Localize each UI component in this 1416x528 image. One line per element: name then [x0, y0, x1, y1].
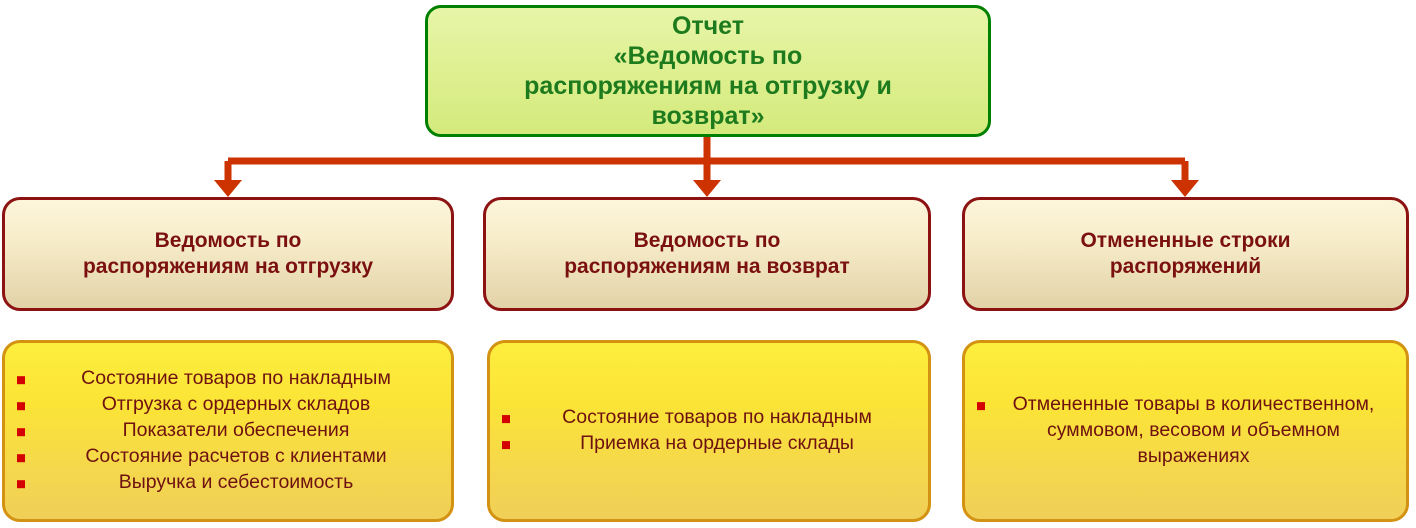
list-item-label: Состояние товаров по накладным — [562, 406, 872, 428]
list-item-label: Отмененные товары в количественном, сумм… — [1013, 393, 1375, 467]
list-item: Отмененные товары в количественном, сумм… — [965, 392, 1406, 470]
list-item-label: Состояние расчетов с клиентами — [85, 445, 386, 467]
branch-node-return[interactable]: Ведомость по распоряжениям на возврат — [483, 197, 931, 311]
branch-node-title: Ведомость по распоряжениям на возврат — [554, 228, 860, 281]
leaf-list: Состояние товаров по накладным Отгрузка … — [5, 366, 451, 496]
list-item: Состояние товаров по накладным — [5, 366, 451, 392]
bullet-square-icon — [502, 415, 510, 423]
branch-node-title: Отмененные строки распоряжений — [1070, 228, 1300, 281]
connector-arrowhead-2 — [693, 180, 721, 197]
branch-node-shipment[interactable]: Ведомость по распоряжениям на отгрузку — [2, 197, 454, 311]
bullet-square-icon — [17, 376, 25, 384]
leaf-list: Отмененные товары в количественном, сумм… — [965, 392, 1406, 470]
list-item-label: Состояние товаров по накладным — [81, 367, 391, 389]
list-item: Состояние расчетов с клиентами — [5, 444, 451, 470]
bullet-square-icon — [17, 454, 25, 462]
leaf-node-shipment-metrics[interactable]: Состояние товаров по накладным Отгрузка … — [2, 340, 454, 522]
root-node-title: Отчет «Ведомость по распоряжениям на отг… — [516, 11, 900, 132]
report-hierarchy-diagram: Отчет «Ведомость по распоряжениям на отг… — [0, 0, 1416, 528]
bullet-square-icon — [977, 402, 985, 410]
bullet-square-icon — [502, 441, 510, 449]
list-item: Выручка и себестоимость — [5, 470, 451, 496]
connector-arrowhead-3 — [1171, 180, 1199, 197]
bullet-square-icon — [17, 480, 25, 488]
list-item: Отгрузка с ордерных складов — [5, 392, 451, 418]
leaf-node-return-metrics[interactable]: Состояние товаров по накладным Приемка н… — [487, 340, 931, 522]
bullet-square-icon — [17, 428, 25, 436]
list-item-label: Приемка на ордерные склады — [580, 432, 854, 454]
list-item-label: Выручка и себестоимость — [119, 471, 354, 493]
branch-node-cancelled[interactable]: Отмененные строки распоряжений — [962, 197, 1409, 311]
branch-node-title: Ведомость по распоряжениям на отгрузку — [73, 228, 383, 281]
list-item: Состояние товаров по накладным — [490, 405, 928, 431]
leaf-node-cancelled-metrics[interactable]: Отмененные товары в количественном, сумм… — [962, 340, 1409, 522]
leaf-list: Состояние товаров по накладным Приемка н… — [490, 405, 928, 457]
list-item: Показатели обеспечения — [5, 418, 451, 444]
connector-arrowhead-1 — [214, 180, 242, 197]
list-item: Приемка на ордерные склады — [490, 431, 928, 457]
list-item-label: Отгрузка с ордерных складов — [102, 393, 371, 415]
root-node[interactable]: Отчет «Ведомость по распоряжениям на отг… — [425, 5, 991, 137]
bullet-square-icon — [17, 402, 25, 410]
list-item-label: Показатели обеспечения — [123, 419, 350, 441]
